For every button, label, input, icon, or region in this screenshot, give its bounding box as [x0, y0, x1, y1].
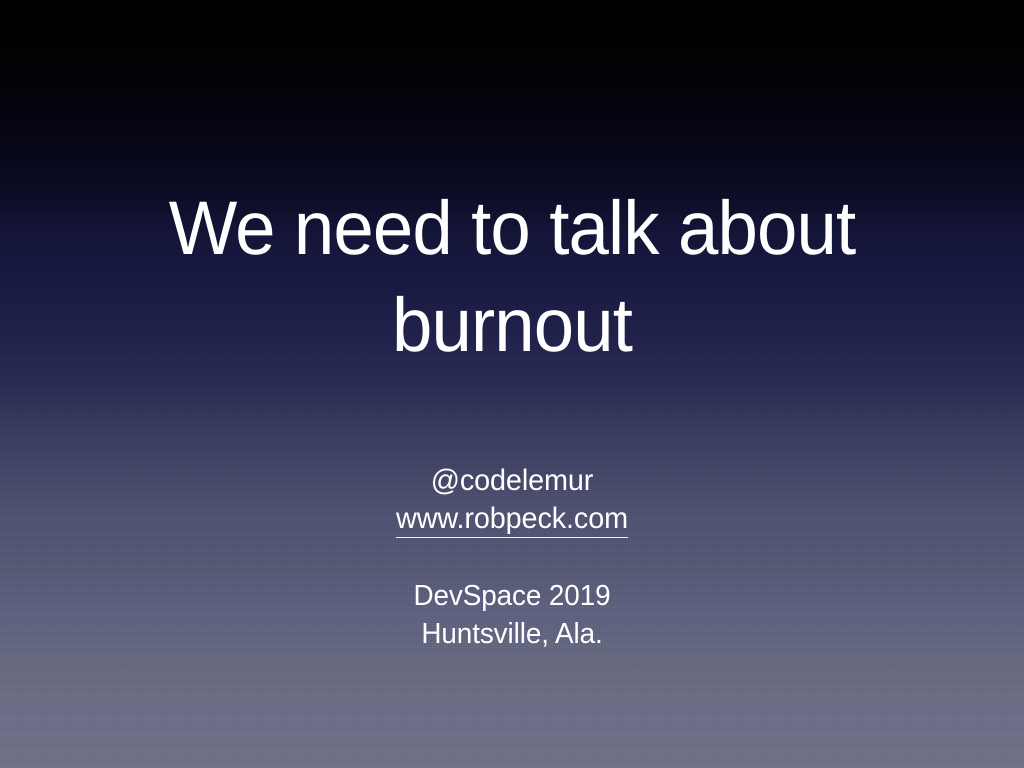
event-block: DevSpace 2019 Huntsville, Ala. [128, 578, 896, 653]
event-location: Huntsville, Ala. [128, 616, 896, 654]
slide-content: We need to talk about burnout @codelemur… [0, 0, 1024, 768]
website-line: www.robpeck.com [128, 500, 896, 538]
social-handle: @codelemur [128, 462, 896, 500]
title-slide: We need to talk about burnout @codelemur… [0, 0, 1024, 768]
contact-block: @codelemur www.robpeck.com [128, 462, 896, 538]
event-name: DevSpace 2019 [128, 578, 896, 616]
page-title: We need to talk about burnout [115, 180, 910, 375]
website-link[interactable]: www.robpeck.com [396, 502, 628, 538]
